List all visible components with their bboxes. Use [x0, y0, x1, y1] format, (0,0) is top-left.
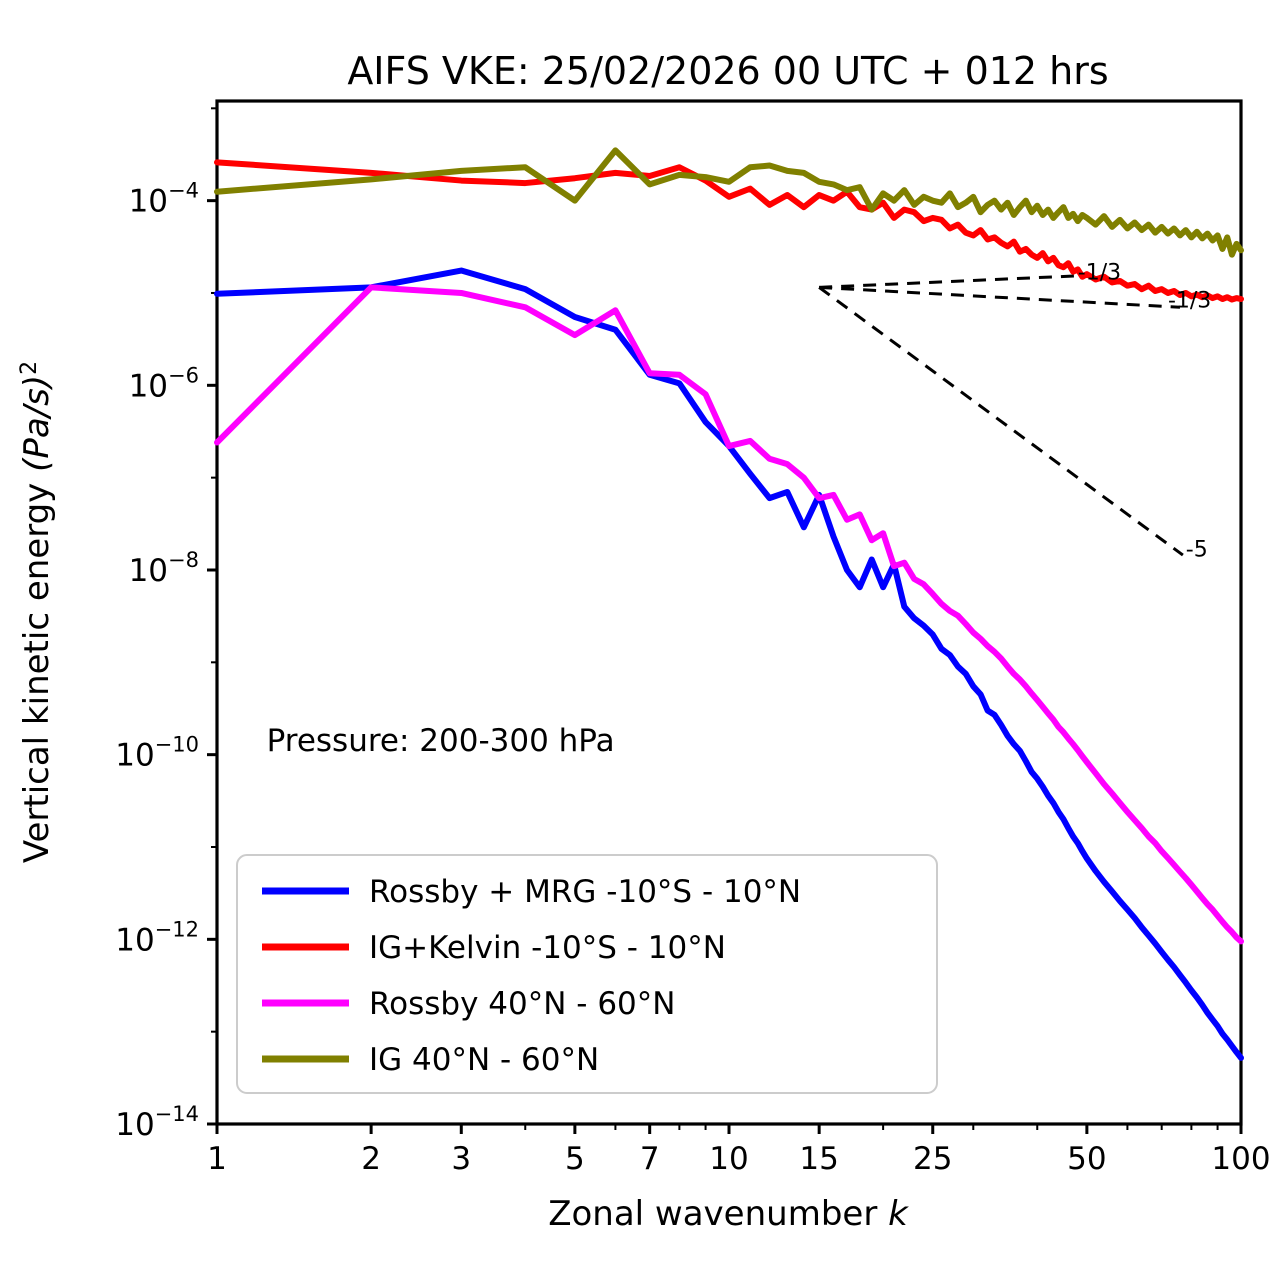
- slope-label-minus5: -5: [1186, 537, 1208, 562]
- legend-label-1[interactable]: IG+Kelvin -10°S - 10°N: [369, 930, 726, 966]
- x-tick-label: 2: [361, 1141, 381, 1177]
- x-axis-label: Zonal wavenumber k: [548, 1194, 909, 1234]
- x-tick-label: 10: [709, 1141, 748, 1177]
- x-tick-label: 7: [640, 1141, 660, 1177]
- x-tick-label: 100: [1211, 1141, 1270, 1177]
- x-tick-label: 1: [207, 1141, 227, 1177]
- figure-canvas: AIFS VKE: 25/02/2026 00 UTC + 012 hrs 10…: [0, 0, 1280, 1288]
- legend-label-2[interactable]: Rossby 40°N - 60°N: [369, 986, 675, 1022]
- x-tick-label: 3: [451, 1141, 471, 1177]
- legend-label-0[interactable]: Rossby + MRG -10°S - 10°N: [369, 874, 801, 910]
- vke-spectrum-chart: AIFS VKE: 25/02/2026 00 UTC + 012 hrs 10…: [0, 0, 1280, 1288]
- x-tick-label: 15: [799, 1141, 838, 1177]
- chart-legend[interactable]: Rossby + MRG -10°S - 10°NIG+Kelvin -10°S…: [237, 855, 937, 1093]
- pressure-annotation: Pressure: 200-300 hPa: [267, 723, 615, 759]
- x-tick-label: 5: [565, 1141, 585, 1177]
- legend-label-3[interactable]: IG 40°N - 60°N: [369, 1042, 599, 1078]
- slope-label-upper: -1/3: [1078, 260, 1121, 285]
- slope-label-lower: -1/3: [1168, 288, 1211, 313]
- x-tick-label: 25: [913, 1141, 952, 1177]
- y-axis-label: Vertical kinetic energy (Pa/s)2: [17, 361, 57, 863]
- page-title: AIFS VKE: 25/02/2026 00 UTC + 012 hrs: [347, 49, 1108, 93]
- x-tick-label: 50: [1067, 1141, 1106, 1177]
